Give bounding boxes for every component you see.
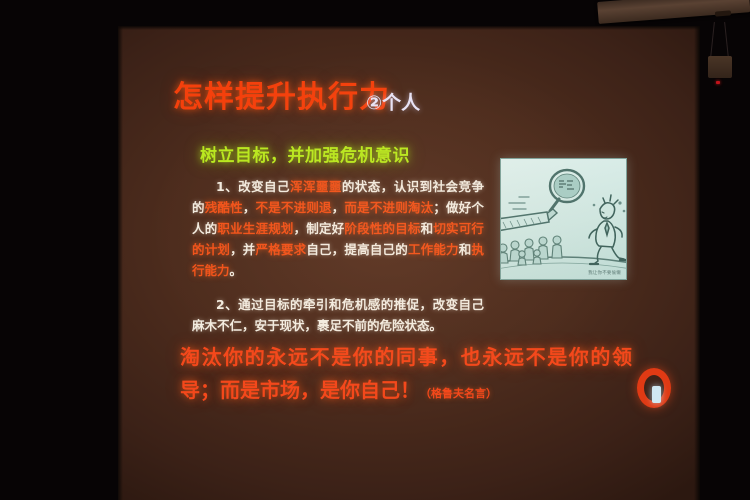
slide-title-suffix: ②个人 [366, 88, 420, 115]
highlighted-phrase: 职业生涯规划 [217, 221, 293, 236]
roller-bar-notch [715, 10, 731, 16]
sensor-led-indicator [716, 81, 720, 84]
body-text-run: 。 [230, 263, 243, 278]
highlighted-phrase: 浑浑噩噩 [290, 179, 342, 194]
body-text-run: 改变自己 [238, 179, 290, 194]
body-paragraph: 2、通过目标的牵引和危机感的推促，改变自己麻木不仁，安于现状，裹足不前的危险状态… [192, 294, 484, 336]
body-text-run: ，并 [230, 242, 255, 257]
highlighted-phrase: 残酷性 [205, 200, 243, 215]
body-text-run: 自己，提高自己的 [306, 242, 408, 257]
highlighted-phrase: 而是不进则淘汰 [344, 200, 433, 215]
highlighted-phrase: 严格要求 [256, 242, 307, 257]
paragraph-index: 1、 [216, 179, 238, 194]
slide-subtitle: 树立目标，并加强危机意识 [200, 141, 410, 166]
presentation-slide: 怎样提升执行力 ②个人 树立目标，并加强危机意识 1、改变自己浑浑噩噩的状态，认… [118, 26, 700, 500]
paragraph-index: 2、 [216, 297, 238, 312]
highlighted-phrase: 阶段性的目标 [344, 221, 420, 236]
quote-text: 淘汰你的永远不是你的同事，也永远不是你的领导；而是市场，是你自己！ [180, 345, 632, 402]
illustration-caption: 我让你不要偷懒 [588, 270, 621, 276]
illustration-drawing [501, 159, 626, 279]
body-text-run: ，制定好 [294, 221, 345, 236]
projection-screen: 怎样提升执行力 ②个人 树立目标，并加强危机意识 1、改变自己浑浑噩噩的状态，认… [118, 26, 700, 500]
dark-room-background: 怎样提升执行力 ②个人 树立目标，并加强危机意识 1、改变自己浑浑噩噩的状态，认… [0, 0, 750, 500]
ceiling-hanging-sensor [708, 56, 732, 78]
slide-quote: 淘汰你的永远不是你的同事，也永远不是你的领导；而是市场，是你自己！（格鲁夫名言） [180, 341, 632, 410]
highlighted-phrase: 不是不进则退 [256, 200, 332, 215]
body-paragraph: 1、改变自己浑浑噩噩的状态，认识到社会竞争的残酷性，不是不进则退，而是不进则淘汰… [192, 176, 484, 281]
cartoon-runner-with-magnifier-image: 我让你不要偷懒 [500, 158, 627, 280]
body-text-run: 和 [421, 221, 434, 236]
body-text-run: ， [243, 200, 256, 215]
slide-body-text: 1、改变自己浑浑噩噩的状态，认识到社会竞争的残酷性，不是不进则退，而是不进则淘汰… [192, 176, 484, 345]
body-text-run: ， [332, 200, 345, 215]
highlighted-phrase: 工作能力 [408, 242, 459, 257]
body-text-run: 和 [459, 242, 472, 257]
hanging-device-wire-right [724, 22, 729, 58]
hanging-device-wire-left [710, 22, 715, 58]
orange-ring-logo [637, 368, 671, 408]
quote-source: （格鲁夫名言） [420, 387, 497, 400]
logo-accent-shape [652, 386, 661, 403]
slide-title: 怎样提升执行力 [173, 72, 390, 116]
